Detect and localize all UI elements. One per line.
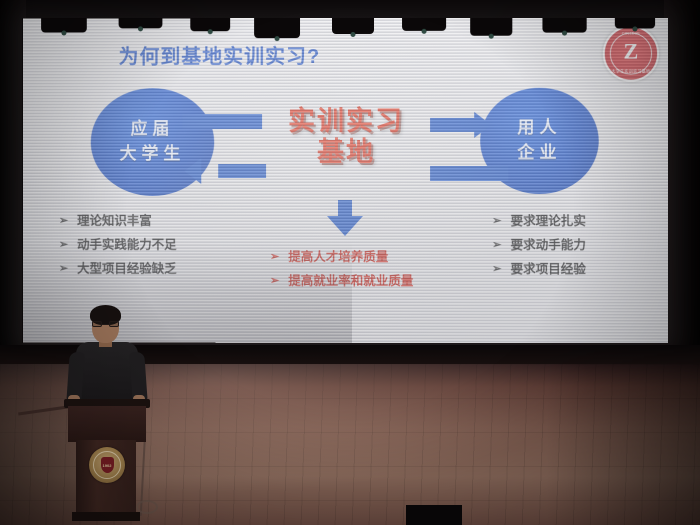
center-title-line2: 基地 <box>260 137 432 168</box>
glasses-right-lens <box>109 321 119 327</box>
list-item-label: 要求动手能力 <box>511 234 586 258</box>
connector-left-top-bar <box>182 114 262 129</box>
floor-monitor-box <box>406 505 462 525</box>
left-circle-line2: 大学生 <box>120 142 186 167</box>
logo-bottom-text: 大学生实训实习基地 <box>605 69 657 75</box>
list-item: ➢ 动手实践能力不足 <box>59 234 177 258</box>
connector-left-bottom-bar <box>218 164 266 178</box>
list-item: ➢ 提高就业率和就业质量 <box>270 270 413 294</box>
presenter-torso <box>76 342 138 404</box>
arrow-left-pointing <box>184 158 201 184</box>
right-bullet-list: ➢ 要求理论扎实 ➢ 要求动手能力 ➢ 要求项目经验 <box>492 210 586 281</box>
connector-right-top-bar <box>430 118 476 132</box>
photo-scene: 为何到基地实训实习? COLLEGE Z 大学生实训实习基地 应届 大学生 用人… <box>0 0 700 525</box>
list-item: ➢ 要求理论扎实 <box>492 210 586 234</box>
arrow-right-pointing <box>474 112 491 138</box>
list-item-label: 要求项目经验 <box>511 258 586 282</box>
hall-right-wall <box>664 0 700 372</box>
glasses-icon <box>92 321 119 327</box>
bullet-marker-icon: ➢ <box>270 271 279 292</box>
right-circle-line2: 企业 <box>517 141 561 166</box>
list-item-label: 要求理论扎实 <box>511 210 586 234</box>
right-circle-line1: 用人 <box>517 116 561 141</box>
bullet-marker-icon: ➢ <box>59 211 68 232</box>
emblem-inner-ring <box>93 451 121 479</box>
center-title-training-base: 实训实习 基地 <box>260 106 432 168</box>
list-item-label: 提高人才培养质量 <box>288 246 388 270</box>
bullet-marker-icon: ➢ <box>492 211 501 232</box>
connector-right-bottom-bar <box>430 166 508 181</box>
left-circle-line1: 应届 <box>131 117 175 142</box>
projection-screen: 为何到基地实训实习? COLLEGE Z 大学生实训实习基地 应届 大学生 用人… <box>22 18 668 343</box>
bullet-marker-icon: ➢ <box>492 235 501 256</box>
ceiling-truss-silhouette <box>23 18 668 48</box>
bullet-marker-icon: ➢ <box>59 259 68 280</box>
list-item-label: 大型项目经验缺乏 <box>77 257 177 281</box>
podium-base <box>72 512 140 521</box>
list-item: ➢ 要求动手能力 <box>492 234 586 258</box>
left-bullet-list: ➢ 理论知识丰富 ➢ 动手实践能力不足 ➢ 大型项目经验缺乏 <box>59 210 177 281</box>
list-item: ➢ 大型项目经验缺乏 <box>59 257 177 281</box>
list-item: ➢ 要求项目经验 <box>492 258 586 282</box>
podium-emblem-icon: 1902 <box>89 447 125 483</box>
list-item-label: 提高就业率和就业质量 <box>288 270 413 294</box>
presentation-slide: 为何到基地实训实习? COLLEGE Z 大学生实训实习基地 应届 大学生 用人… <box>23 18 668 343</box>
glasses-left-lens <box>92 321 102 327</box>
screen-surface: 为何到基地实训实习? COLLEGE Z 大学生实训实习基地 应届 大学生 用人… <box>23 18 668 343</box>
list-item-label: 动手实践能力不足 <box>77 234 177 258</box>
list-item: ➢ 理论知识丰富 <box>59 210 177 234</box>
glasses-bridge <box>102 324 109 325</box>
podium-front-panel <box>68 406 146 442</box>
center-title-line1: 实训实习 <box>260 106 432 137</box>
list-item-label: 理论知识丰富 <box>77 210 152 234</box>
bullet-marker-icon: ➢ <box>492 259 501 280</box>
list-item: ➢ 提高人才培养质量 <box>270 246 413 270</box>
center-bullet-list: ➢ 提高人才培养质量 ➢ 提高就业率和就业质量 <box>270 246 413 294</box>
arrow-down-icon <box>327 216 363 236</box>
bullet-marker-icon: ➢ <box>270 247 279 268</box>
bullet-marker-icon: ➢ <box>59 235 68 256</box>
